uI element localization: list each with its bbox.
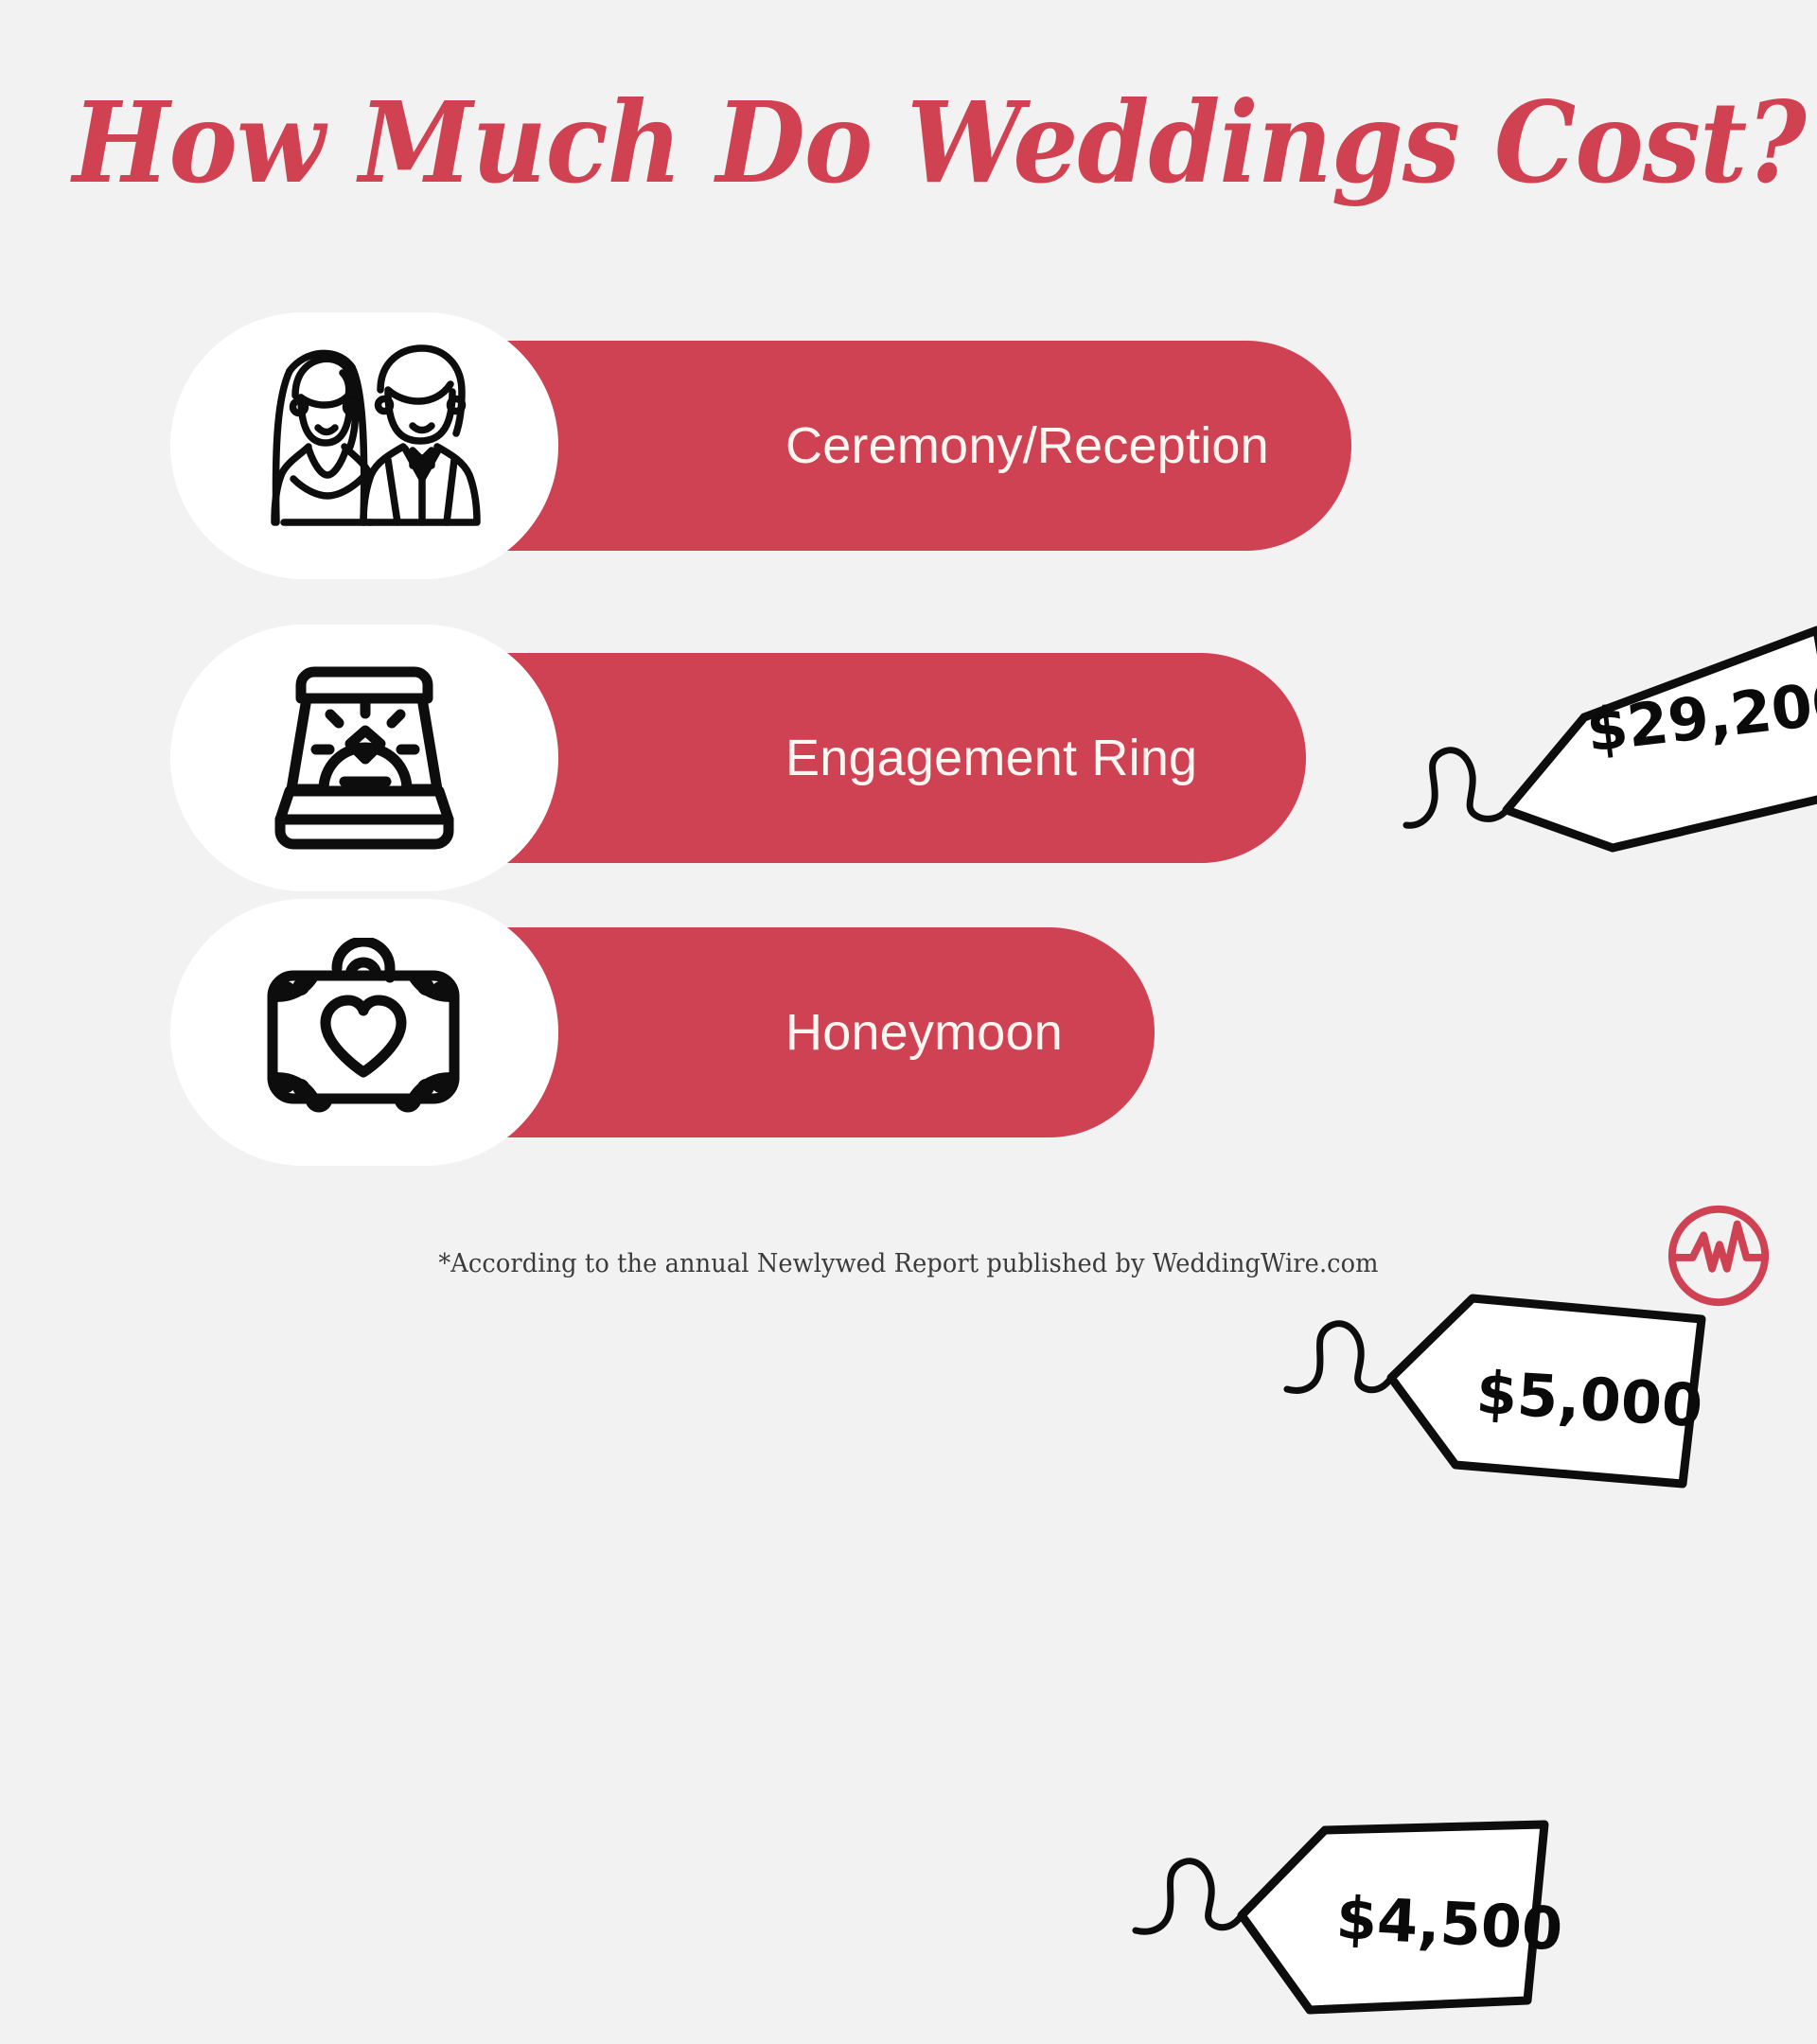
ring-box-icon xyxy=(265,657,464,860)
price-amount: $5,000 xyxy=(1474,1358,1704,1440)
infographic-canvas: How Much Do Weddings Cost? Ceremony/Rece… xyxy=(0,0,1817,1342)
price-tag-engagement-ring: $5,000 xyxy=(1287,1277,1741,1514)
cost-row-label: Honeymoon xyxy=(785,1003,1063,1062)
cost-row-label: Ceremony/Reception xyxy=(785,416,1269,475)
cost-rows: Ceremony/Reception xyxy=(0,0,1817,1342)
cost-row-label: Engagement Ring xyxy=(785,729,1197,787)
price-tag-ceremony-reception: $29,200 xyxy=(1401,613,1817,869)
bride-and-groom-icon xyxy=(246,337,483,555)
price-amount: $4,500 xyxy=(1334,1883,1564,1964)
icon-pill xyxy=(170,899,558,1166)
weddingwire-logo xyxy=(1663,1200,1774,1312)
source-footnote: *According to the annual Newlywed Report… xyxy=(45,1249,1772,1278)
suitcase-heart-icon xyxy=(256,938,473,1127)
price-tag-honeymoon: $4,500 xyxy=(1136,1807,1590,2044)
icon-pill xyxy=(170,625,558,891)
icon-pill xyxy=(170,312,558,579)
